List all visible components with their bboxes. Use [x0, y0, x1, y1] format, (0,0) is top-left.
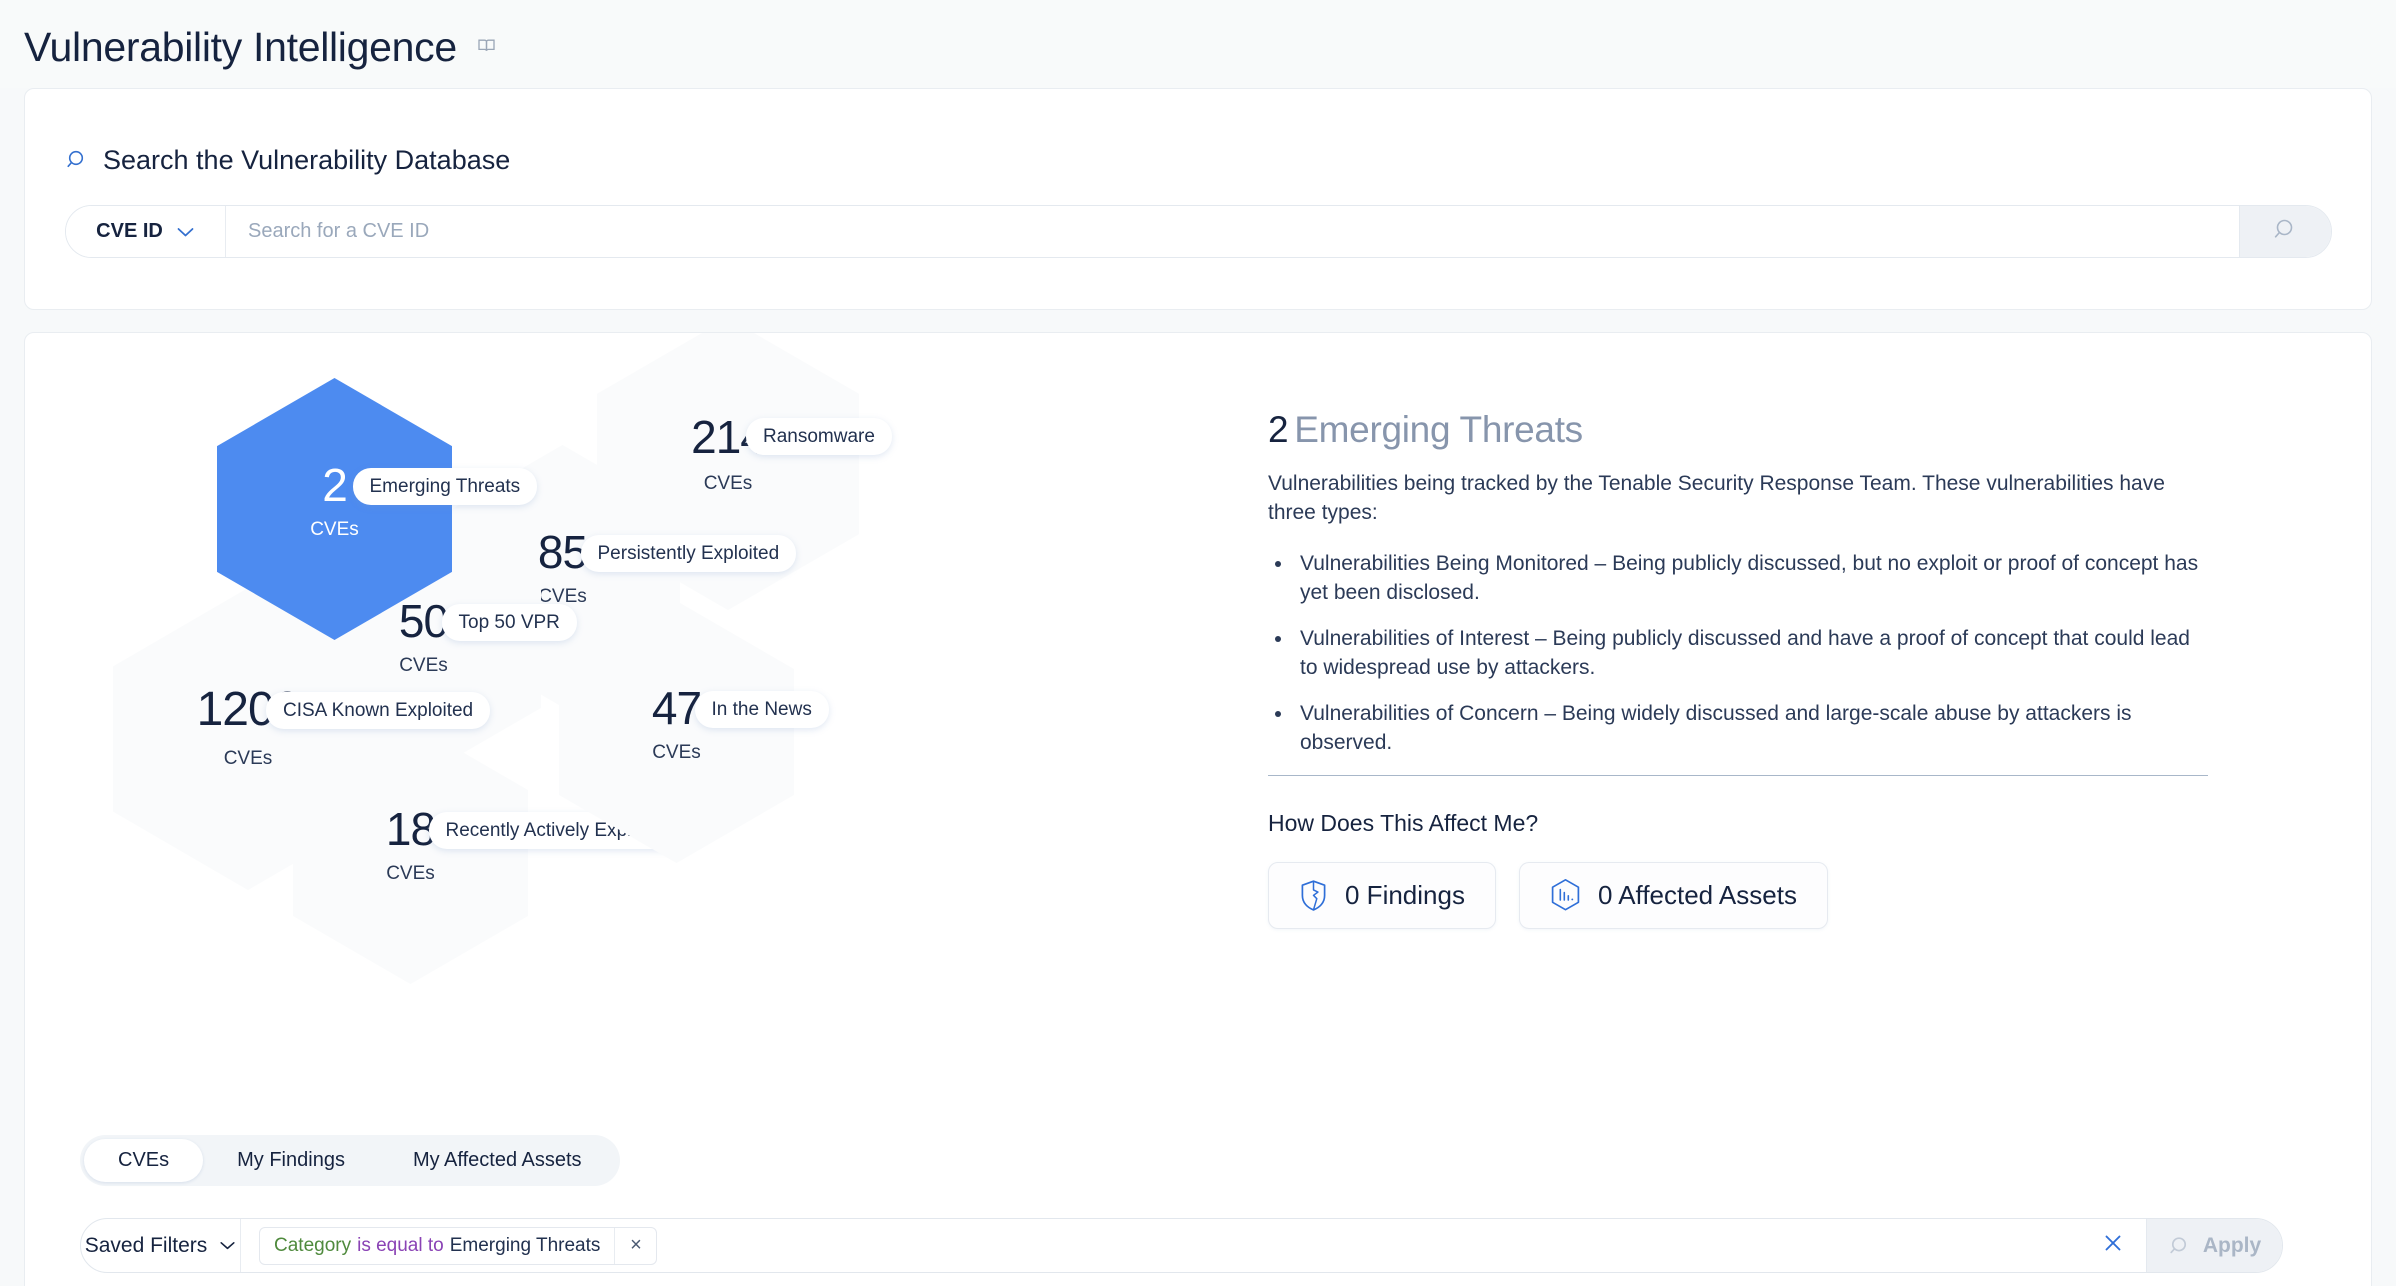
detail-lead-text: Vulnerabilities being tracked by the Ten… [1268, 470, 2208, 528]
detail-bullet-list: Vulnerabilities Being Monitored – Being … [1294, 550, 2208, 758]
chevron-down-icon [219, 1240, 236, 1251]
search-icon [65, 148, 90, 173]
search-icon [2168, 1234, 2192, 1258]
list-item: Vulnerabilities of Interest – Being publ… [1294, 625, 2208, 683]
tab-cves[interactable]: CVEs [84, 1139, 203, 1182]
list-item: Vulnerabilities Being Monitored – Being … [1294, 550, 2208, 608]
filter-chip-field: Category [274, 1235, 351, 1257]
search-type-value: CVE ID [96, 220, 163, 243]
search-icon [2272, 216, 2299, 248]
hex-label: CISA Known Exploited [266, 692, 490, 729]
affect-buttons: 0 Findings 0 Affected Assets [1268, 862, 2208, 929]
hex-label: Ransomware [746, 418, 892, 455]
book-icon[interactable] [477, 21, 496, 62]
apply-label: Apply [2203, 1234, 2261, 1258]
detail-title-label: Emerging Threats [1294, 409, 1583, 450]
filter-bar: Saved Filters Category is equal to Emerg… [80, 1218, 2283, 1273]
page-header: Vulnerability Intelligence [0, 0, 2396, 88]
search-input[interactable] [226, 206, 2239, 257]
category-detail-panel: 2Emerging Threats Vulnerabilities being … [1268, 411, 2208, 929]
hex-unit: CVEs [113, 748, 383, 770]
divider [1268, 775, 2208, 776]
close-icon[interactable]: × [614, 1228, 656, 1264]
hex-unit: CVEs [217, 519, 452, 541]
tab-label: My Affected Assets [413, 1149, 582, 1172]
vulnerability-overview-card: 2 CVEs Emerging Threats 214 CVEs Ransomw… [24, 332, 2372, 1286]
search-heading: Search the Vulnerability Database [65, 145, 2331, 176]
search-row: CVE ID [65, 205, 2332, 258]
saved-filters-dropdown[interactable]: Saved Filters [81, 1219, 241, 1272]
filter-chip-value: Emerging Threats [450, 1235, 601, 1257]
view-tabs: CVEs My Findings My Affected Assets [80, 1135, 620, 1186]
clear-all-filters-button[interactable] [2080, 1219, 2146, 1272]
detail-title: 2Emerging Threats [1268, 411, 2208, 448]
shield-crack-icon [1299, 879, 1328, 912]
saved-filters-label: Saved Filters [85, 1234, 208, 1258]
hex-label: Persistently Exploited [581, 535, 797, 572]
list-item: Vulnerabilities of Concern – Being widel… [1294, 700, 2208, 758]
search-heading-label: Search the Vulnerability Database [103, 145, 510, 176]
filter-chip-operator: is equal to [357, 1235, 444, 1257]
filter-chips: Category is equal to Emerging Threats × [241, 1219, 2080, 1272]
search-type-dropdown[interactable]: CVE ID [66, 206, 226, 257]
hex-label: In the News [695, 691, 829, 728]
tab-label: CVEs [118, 1149, 169, 1172]
tab-my-findings[interactable]: My Findings [203, 1139, 379, 1182]
hex-label: Emerging Threats [353, 468, 538, 505]
search-submit-button[interactable] [2239, 206, 2331, 257]
findings-label: 0 Findings [1345, 880, 1465, 911]
filter-chip[interactable]: Category is equal to Emerging Threats × [259, 1227, 657, 1265]
page-title-text: Vulnerability Intelligence [24, 24, 457, 70]
tab-label: My Findings [237, 1149, 345, 1172]
page-title: Vulnerability Intelligence [24, 21, 496, 68]
filter-chip-text: Category is equal to Emerging Threats [260, 1228, 614, 1264]
hexagon-chart-icon [1550, 878, 1581, 912]
hex-label: Top 50 VPR [442, 604, 577, 641]
hex-unit: CVEs [559, 742, 794, 764]
apply-filters-button[interactable]: Apply [2146, 1219, 2282, 1272]
detail-count: 2 [1268, 409, 1288, 450]
hex-emerging-threats[interactable]: 2 CVEs Emerging Threats [217, 378, 452, 640]
affect-heading: How Does This Affect Me? [1268, 810, 2208, 837]
category-hex-cluster: 2 CVEs Emerging Threats 214 CVEs Ransomw… [25, 333, 1265, 1093]
close-icon [2102, 1230, 2124, 1261]
affected-assets-button[interactable]: 0 Affected Assets [1519, 862, 1828, 929]
findings-button[interactable]: 0 Findings [1268, 862, 1496, 929]
tab-my-affected-assets[interactable]: My Affected Assets [379, 1139, 616, 1182]
affected-assets-label: 0 Affected Assets [1598, 880, 1797, 911]
search-card: Search the Vulnerability Database CVE ID [24, 88, 2372, 310]
chevron-down-icon [176, 226, 195, 238]
